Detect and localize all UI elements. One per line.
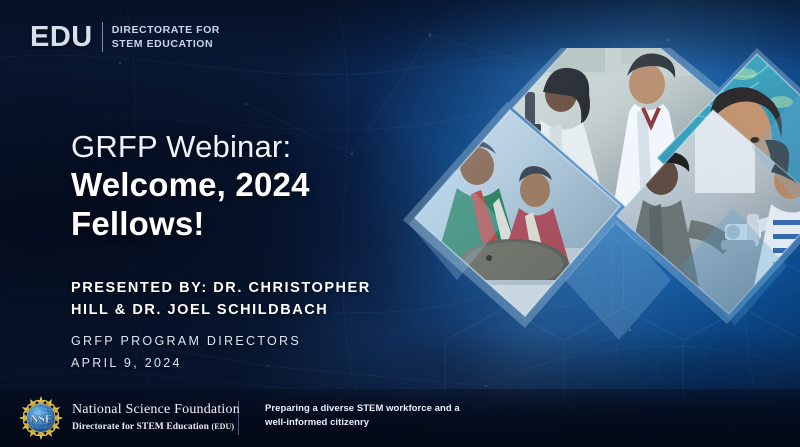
nsf-agency-unit: Directorate for STEM Education (EDU)	[72, 421, 240, 433]
nsf-lockup: NSF National Science Foundation Director…	[18, 395, 240, 441]
title-line-2: Welcome, 2024	[71, 166, 421, 205]
nsf-seal-letters: NSF	[30, 414, 52, 426]
nsf-agency-unit-text: Directorate for STEM Education	[72, 422, 209, 432]
photo-collage	[395, 48, 800, 348]
tagline-line-2: well-informed citizenry	[265, 416, 465, 430]
nsf-agency-text: National Science Foundation Directorate …	[72, 402, 240, 433]
slide-title: GRFP Webinar: Welcome, 2024 Fellows!	[71, 129, 421, 243]
nsf-seal-icon: NSF	[18, 395, 64, 441]
roles-block: GRFP PROGRAM DIRECTORS APRIL 9, 2024	[71, 331, 431, 374]
edu-wordmark-icon: EDU	[30, 23, 93, 52]
edu-subtitle-line-2: STEM EDUCATION	[112, 37, 220, 51]
edu-logo: EDU DIRECTORATE FOR STEM EDUCATION	[30, 22, 220, 52]
title-line-1: GRFP Webinar:	[71, 129, 421, 166]
edu-logo-subtitle: DIRECTORATE FOR STEM EDUCATION	[112, 23, 220, 51]
edu-logo-divider	[102, 22, 103, 52]
title-line-3: Fellows!	[71, 205, 421, 244]
presenters-line-1: PRESENTED BY: DR. CHRISTOPHER	[71, 278, 431, 300]
nsf-agency-name: National Science Foundation	[72, 402, 240, 419]
presentation-slide: EDU DIRECTORATE FOR STEM EDUCATION GRFP …	[0, 0, 800, 447]
edu-subtitle-line-1: DIRECTORATE FOR	[112, 23, 220, 37]
footer-tagline: Preparing a diverse STEM workforce and a…	[265, 402, 465, 430]
roles-line-1: GRFP PROGRAM DIRECTORS	[71, 331, 431, 353]
presenters-block: PRESENTED BY: DR. CHRISTOPHER HILL & DR.…	[71, 278, 431, 322]
footer-divider	[238, 401, 239, 435]
roles-date: APRIL 9, 2024	[71, 353, 431, 375]
tagline-line-1: Preparing a diverse STEM workforce and a	[265, 402, 465, 416]
presenters-line-2: HILL & DR. JOEL SCHILDBACH	[71, 300, 431, 322]
nsf-agency-unit-abbrev: (EDU)	[211, 422, 234, 431]
